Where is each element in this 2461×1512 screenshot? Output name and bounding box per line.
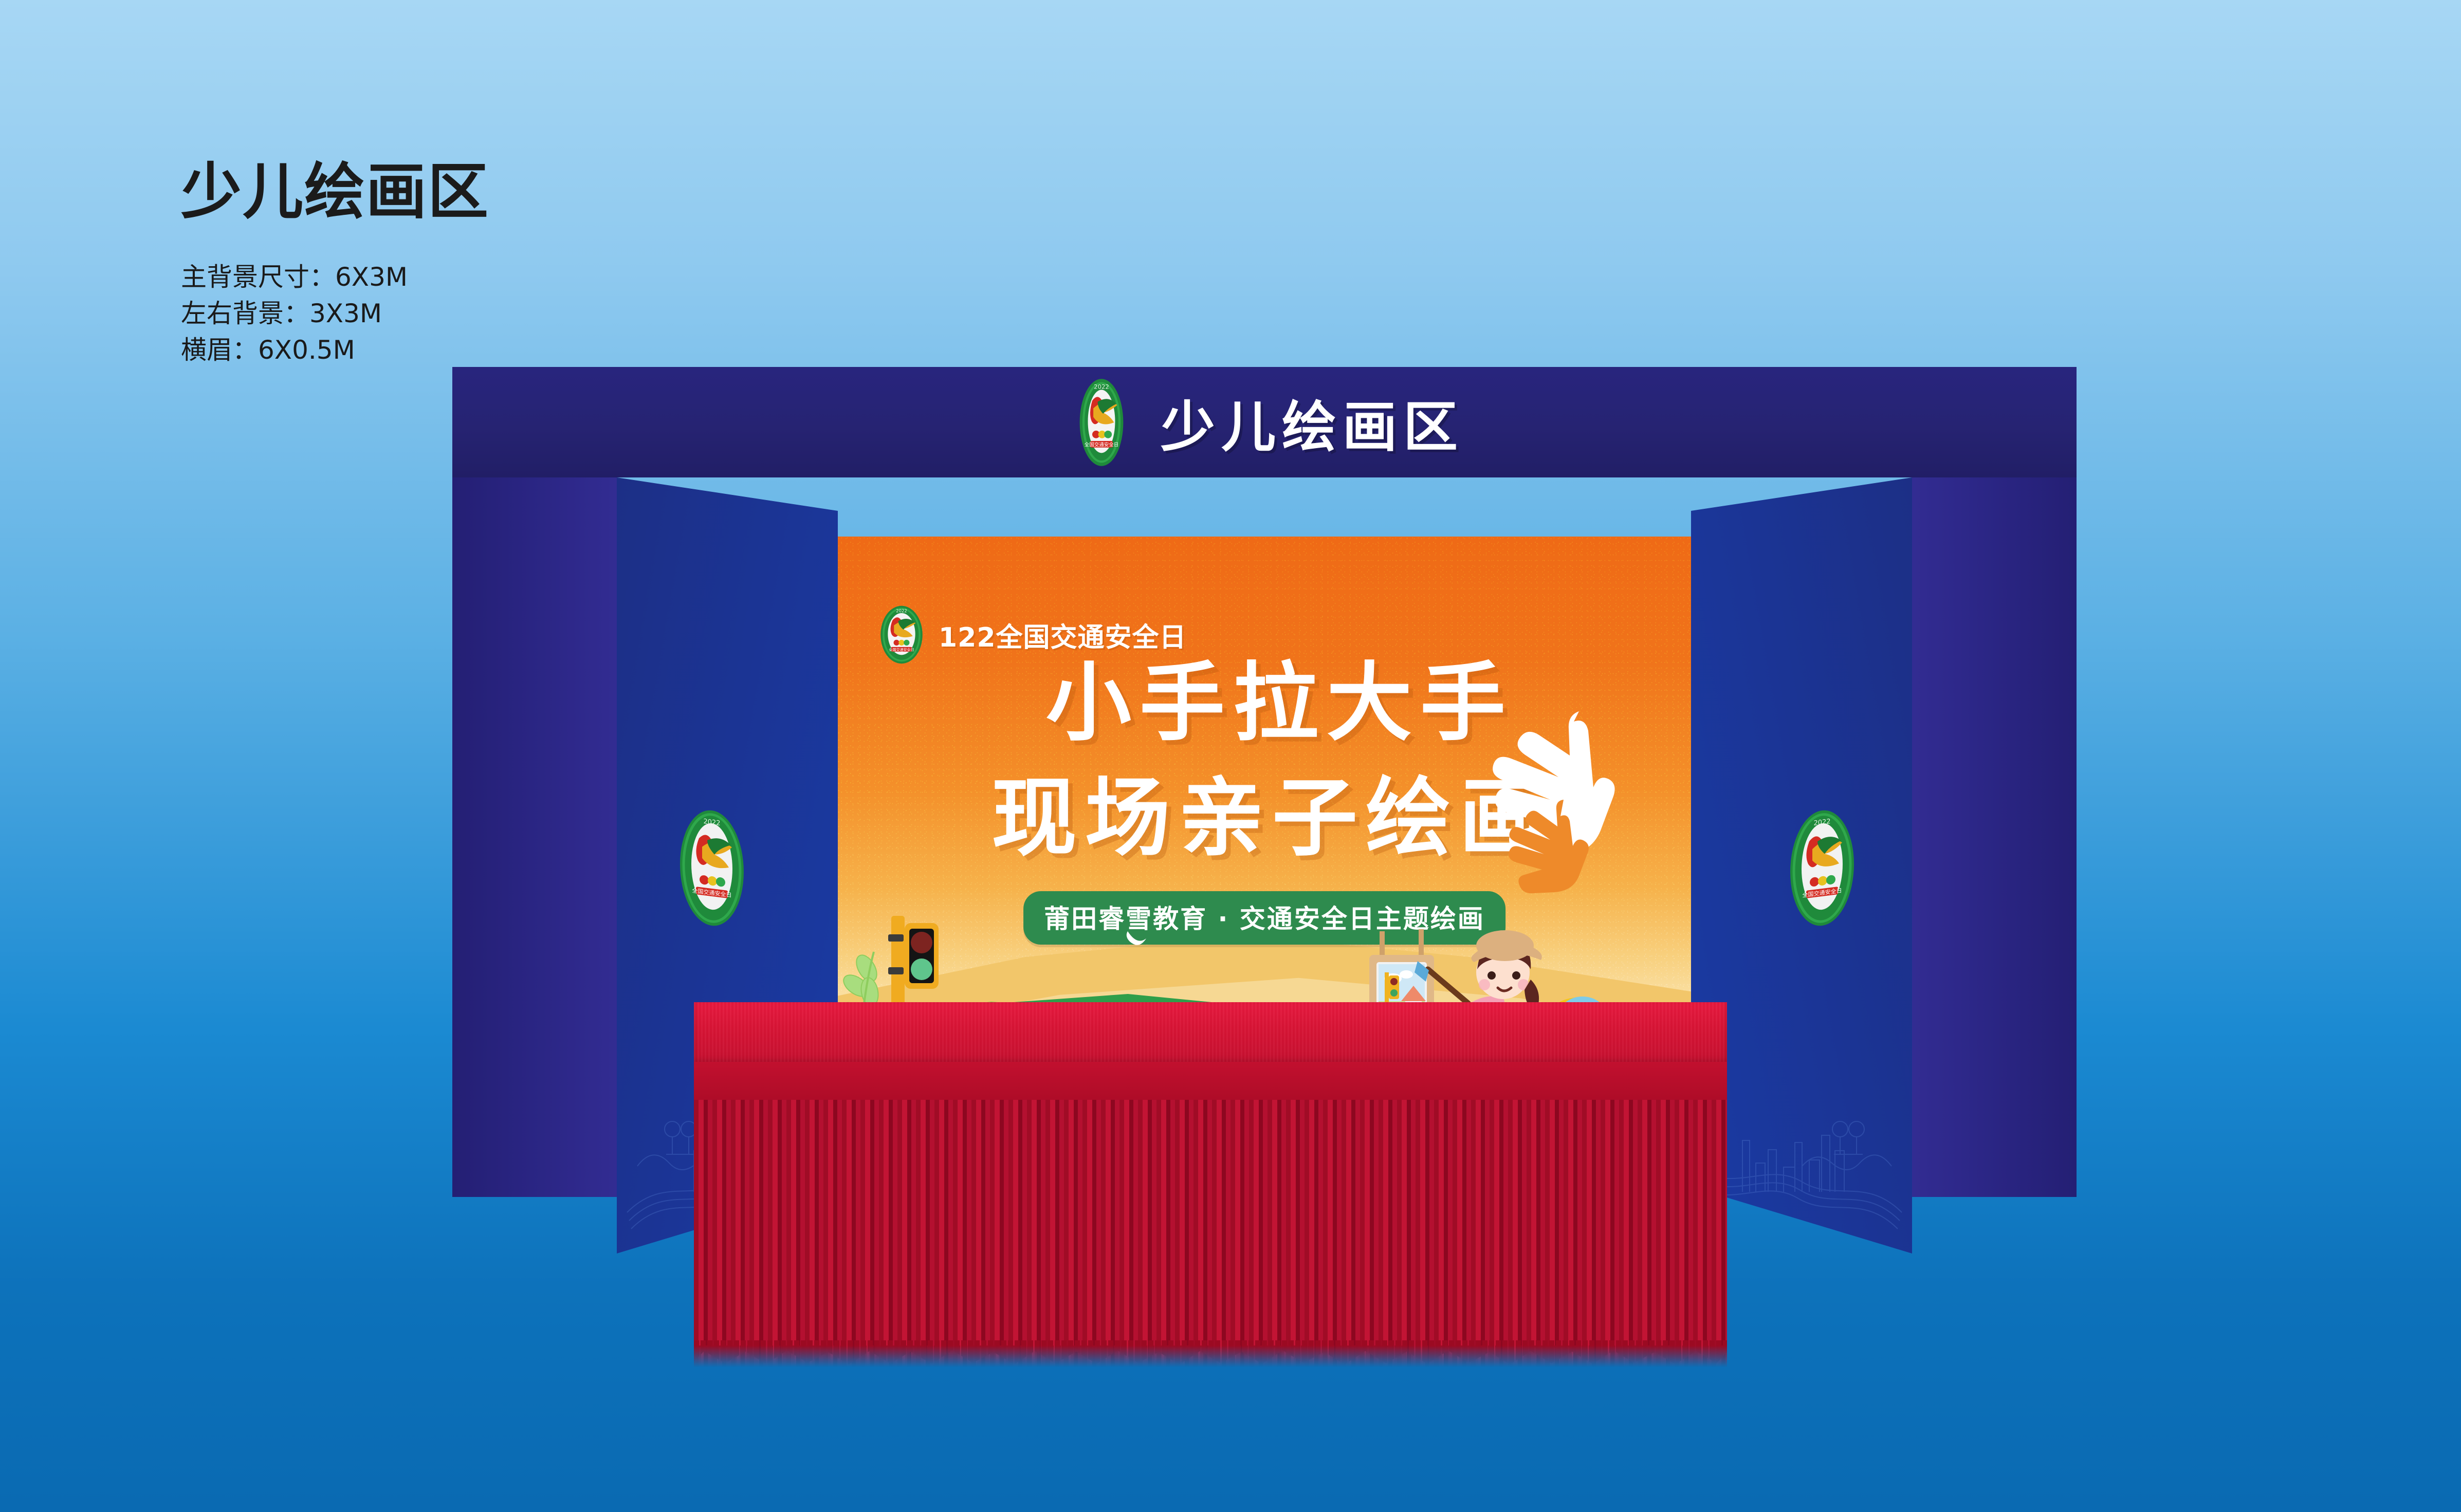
booth-wing-right bbox=[1912, 477, 2077, 1197]
bird-icon bbox=[1126, 927, 1166, 950]
traffic-safety-day-logo-icon: 全国交通安全日 2022 bbox=[878, 604, 925, 665]
spec-main-backdrop: 主背景尺寸：6X3M bbox=[181, 259, 695, 296]
parent-child-hands-icon bbox=[1464, 706, 1633, 912]
table-skirt-fringe bbox=[694, 1340, 1727, 1367]
booth-header-band: 全国交通安全日 2022 少儿绘画区 bbox=[452, 367, 2077, 477]
svg-text:全国交通安全日: 全国交通安全日 bbox=[1085, 441, 1119, 448]
table-top bbox=[694, 1002, 1727, 1064]
draped-table bbox=[694, 1002, 1727, 1393]
traffic-safety-day-logo-icon: 全国交通安全日 2022 bbox=[678, 805, 745, 931]
spec-list: 主背景尺寸：6X3M 左右背景：3X3M 横眉：6X0.5M bbox=[181, 259, 695, 368]
table-skirt-band bbox=[694, 1062, 1727, 1102]
spec-header-band: 横眉：6X0.5M bbox=[181, 332, 695, 368]
sidewall-logo-right: 全国交通安全日 2022 bbox=[1789, 805, 1856, 931]
booth-header-title: 少儿绘画区 bbox=[1161, 383, 1464, 462]
page-title: 少儿绘画区 bbox=[181, 160, 695, 224]
spec-side-backdrop: 左右背景：3X3M bbox=[181, 296, 695, 332]
booth-wing-left bbox=[452, 477, 617, 1197]
svg-text:全国交通安全日: 全国交通安全日 bbox=[889, 648, 914, 652]
traffic-safety-day-logo-icon: 全国交通安全日 2022 bbox=[1065, 377, 1138, 468]
banner-eyebrow-label: 122全国交通安全日 bbox=[939, 616, 1187, 654]
annotation-block: 少儿绘画区 主背景尺寸：6X3M 左右背景：3X3M 横眉：6X0.5M bbox=[181, 160, 695, 368]
sidewall-logo-left: 全国交通安全日 2022 bbox=[678, 805, 745, 931]
table-skirt-pleats bbox=[694, 1100, 1727, 1367]
svg-text:2022: 2022 bbox=[1094, 383, 1109, 390]
traffic-safety-day-logo-icon: 全国交通安全日 2022 bbox=[1789, 805, 1856, 931]
svg-text:2022: 2022 bbox=[896, 608, 907, 613]
